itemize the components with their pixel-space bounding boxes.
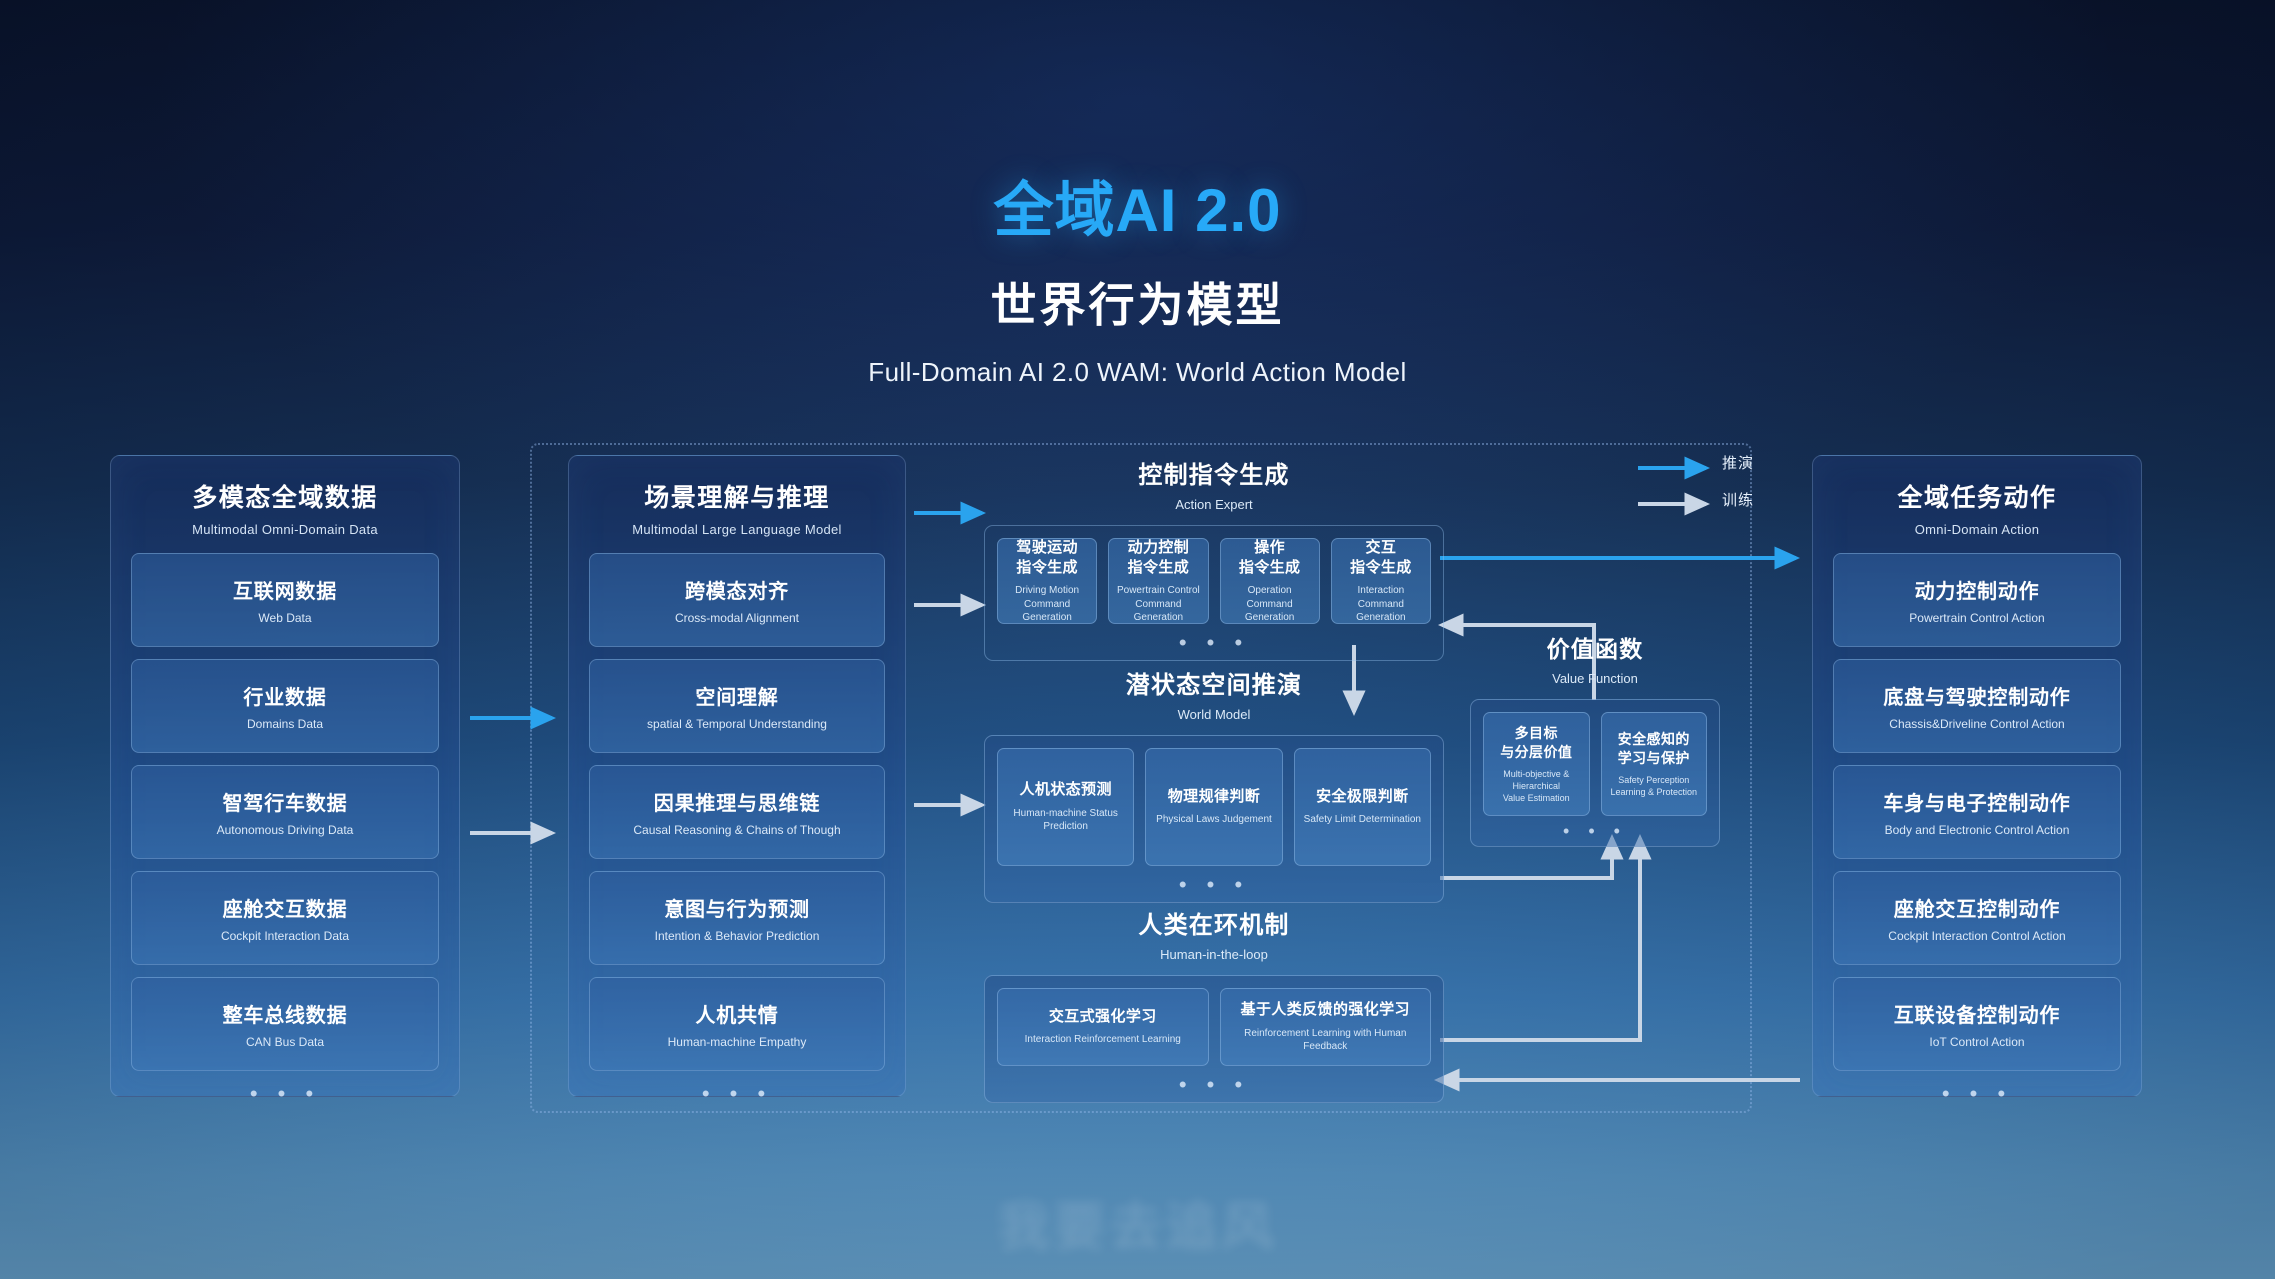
- block-body-value-function: 多目标与分层价值 Multi-objective & HierarchicalV…: [1470, 699, 1720, 847]
- block-title-cn: 价值函数: [1470, 630, 1720, 664]
- chip-title-cn: 多目标与分层价值: [1500, 724, 1572, 762]
- chip-title-en: Powertrain ControlCommand Generation: [1115, 584, 1201, 625]
- chip-title-cn: 物理规律判断: [1168, 787, 1260, 807]
- list-item[interactable]: 基于人类反馈的强化学习 Reinforcement Learning with …: [1220, 988, 1432, 1066]
- list-item[interactable]: 座舱交互数据 Cockpit Interaction Data: [131, 871, 439, 965]
- card-title-cn: 车身与电子控制动作: [1840, 787, 2114, 816]
- block-title-en: Value Function: [1470, 671, 1720, 686]
- more-indicator: • • •: [1833, 1083, 2121, 1105]
- card-title-en: Causal Reasoning & Chains of Though: [596, 823, 878, 837]
- chip-title-en: Reinforcement Learning with Human Feedba…: [1227, 1027, 1425, 1054]
- card-title-cn: 智驾行车数据: [138, 787, 432, 816]
- list-item[interactable]: 人机共情 Human-machine Empathy: [589, 977, 885, 1071]
- card-title-en: Chassis&Driveline Control Action: [1840, 717, 2114, 731]
- block-title-en: Human-in-the-loop: [984, 947, 1444, 962]
- chip-title-cn: 安全极限判断: [1316, 787, 1408, 807]
- list-item[interactable]: 智驾行车数据 Autonomous Driving Data: [131, 765, 439, 859]
- card-title-en: CAN Bus Data: [138, 1035, 432, 1049]
- card-title-en: Human-machine Empathy: [596, 1035, 878, 1049]
- more-indicator: • • •: [1483, 822, 1707, 840]
- block-title-en: World Model: [984, 707, 1444, 722]
- more-indicator: • • •: [131, 1083, 439, 1105]
- card-title-en: Autonomous Driving Data: [138, 823, 432, 837]
- chip-title-cn: 安全感知的学习与保护: [1618, 730, 1690, 768]
- more-indicator: • • •: [997, 1074, 1431, 1096]
- legend-label-inference: 推演: [1722, 452, 1754, 473]
- column-omni-domain-action: 全域任务动作 Omni-Domain Action 动力控制动作 Powertr…: [1812, 455, 2142, 1097]
- card-title-cn: 互联设备控制动作: [1840, 999, 2114, 1028]
- column-title-action-en: Omni-Domain Action: [1833, 522, 2121, 537]
- chip-title-en: Driving MotionCommand Generation: [1004, 584, 1090, 625]
- list-item[interactable]: 人机状态预测 Human-machine Status Prediction: [997, 748, 1134, 866]
- list-item[interactable]: 互联网数据 Web Data: [131, 553, 439, 647]
- card-title-en: Body and Electronic Control Action: [1840, 823, 2114, 837]
- list-item[interactable]: 空间理解 spatial & Temporal Understanding: [589, 659, 885, 753]
- column-title-data-en: Multimodal Omni-Domain Data: [131, 522, 439, 537]
- list-item[interactable]: 跨模态对齐 Cross-modal Alignment: [589, 553, 885, 647]
- legend-label-training: 训练: [1722, 489, 1754, 510]
- chip-title-cn: 交互指令生成: [1350, 538, 1412, 579]
- card-title-cn: 座舱交互数据: [138, 893, 432, 922]
- card-title-en: spatial & Temporal Understanding: [596, 717, 878, 731]
- chip-title-en: Human-machine Status Prediction: [1004, 807, 1127, 834]
- list-item[interactable]: 交互指令生成 InteractionCommand Generation: [1331, 538, 1431, 624]
- card-title-cn: 底盘与驾驶控制动作: [1840, 681, 2114, 710]
- chip-title-cn: 基于人类反馈的强化学习: [1241, 1000, 1410, 1020]
- more-indicator: • • •: [997, 874, 1431, 896]
- chip-title-cn: 动力控制指令生成: [1128, 538, 1190, 579]
- block-title-cn: 人类在环机制: [984, 905, 1444, 940]
- list-item[interactable]: 驾驶运动指令生成 Driving MotionCommand Generatio…: [997, 538, 1097, 624]
- more-indicator: • • •: [997, 632, 1431, 654]
- list-item[interactable]: 动力控制动作 Powertrain Control Action: [1833, 553, 2121, 647]
- list-item[interactable]: 整车总线数据 CAN Bus Data: [131, 977, 439, 1071]
- chip-title-cn: 驾驶运动指令生成: [1016, 538, 1078, 579]
- list-item[interactable]: 车身与电子控制动作 Body and Electronic Control Ac…: [1833, 765, 2121, 859]
- column-title-action-cn: 全域任务动作: [1833, 478, 2121, 514]
- architecture-diagram: 推演 训练 多模态全域数据 Multimodal Omni-Domain Dat…: [0, 0, 2275, 1279]
- card-title-cn: 行业数据: [138, 681, 432, 710]
- column-header-data: 多模态全域数据 Multimodal Omni-Domain Data: [131, 478, 439, 537]
- block-body-world-model: 人机状态预测 Human-machine Status Prediction 物…: [984, 735, 1444, 903]
- card-title-en: Web Data: [138, 611, 432, 625]
- column-title-mllm-cn: 场景理解与推理: [589, 478, 885, 514]
- column-multimodal-data: 多模态全域数据 Multimodal Omni-Domain Data 互联网数…: [110, 455, 460, 1097]
- list-item[interactable]: 因果推理与思维链 Causal Reasoning & Chains of Th…: [589, 765, 885, 859]
- column-header-mllm: 场景理解与推理 Multimodal Large Language Model: [589, 478, 885, 537]
- chip-title-en: InteractionCommand Generation: [1338, 584, 1424, 625]
- block-header-world-model: 潜状态空间推演 World Model: [984, 665, 1444, 722]
- card-title-en: Powertrain Control Action: [1840, 611, 2114, 625]
- column-scene-understanding: 场景理解与推理 Multimodal Large Language Model …: [568, 455, 906, 1097]
- list-item[interactable]: 安全极限判断 Safety Limit Determination: [1294, 748, 1431, 866]
- list-item[interactable]: 交互式强化学习 Interaction Reinforcement Learni…: [997, 988, 1209, 1066]
- chip-title-en: Physical Laws Judgement: [1156, 813, 1272, 827]
- block-action-expert: 控制指令生成 Action Expert 驾驶运动指令生成 Driving Mo…: [984, 455, 1444, 661]
- column-title-data-cn: 多模态全域数据: [131, 478, 439, 514]
- block-header-action-expert: 控制指令生成 Action Expert: [984, 455, 1444, 512]
- chip-title-cn: 人机状态预测: [1019, 780, 1111, 800]
- block-title-cn: 潜状态空间推演: [984, 665, 1444, 700]
- more-indicator: • • •: [589, 1083, 885, 1105]
- card-title-cn: 跨模态对齐: [596, 575, 878, 604]
- block-body-hitl: 交互式强化学习 Interaction Reinforcement Learni…: [984, 975, 1444, 1103]
- card-title-cn: 整车总线数据: [138, 999, 432, 1028]
- card-title-en: Cross-modal Alignment: [596, 611, 878, 625]
- list-item[interactable]: 安全感知的学习与保护 Safety PerceptionLearning & P…: [1601, 712, 1708, 816]
- card-title-en: Cockpit Interaction Data: [138, 929, 432, 943]
- legend: 推演 训练: [1632, 452, 1822, 526]
- card-title-cn: 座舱交互控制动作: [1840, 893, 2114, 922]
- chip-title-cn: 操作指令生成: [1239, 538, 1301, 579]
- list-item[interactable]: 底盘与驾驶控制动作 Chassis&Driveline Control Acti…: [1833, 659, 2121, 753]
- chip-title-en: Interaction Reinforcement Learning: [1025, 1033, 1181, 1047]
- chip-title-en: Safety Limit Determination: [1304, 813, 1421, 827]
- block-title-cn: 控制指令生成: [984, 455, 1444, 490]
- block-header-value-function: 价值函数 Value Function: [1470, 630, 1720, 686]
- list-item[interactable]: 操作指令生成 OperationCommand Generation: [1220, 538, 1320, 624]
- list-item[interactable]: 动力控制指令生成 Powertrain ControlCommand Gener…: [1108, 538, 1208, 624]
- legend-item-inference: 推演: [1632, 452, 1822, 473]
- card-title-cn: 意图与行为预测: [596, 893, 878, 922]
- list-item[interactable]: 意图与行为预测 Intention & Behavior Prediction: [589, 871, 885, 965]
- card-title-en: Intention & Behavior Prediction: [596, 929, 878, 943]
- chip-title-en: Multi-objective & HierarchicalValue Esti…: [1490, 768, 1583, 804]
- chip-title-en: Safety PerceptionLearning & Protection: [1610, 774, 1697, 798]
- block-value-function: 价值函数 Value Function 多目标与分层价值 Multi-objec…: [1470, 630, 1720, 847]
- card-title-cn: 空间理解: [596, 681, 878, 710]
- block-body-action-expert: 驾驶运动指令生成 Driving MotionCommand Generatio…: [984, 525, 1444, 661]
- card-title-en: IoT Control Action: [1840, 1035, 2114, 1049]
- card-title-cn: 人机共情: [596, 999, 878, 1028]
- card-title-en: Domains Data: [138, 717, 432, 731]
- block-title-en: Action Expert: [984, 497, 1444, 512]
- card-title-en: Cockpit Interaction Control Action: [1840, 929, 2114, 943]
- list-item[interactable]: 座舱交互控制动作 Cockpit Interaction Control Act…: [1833, 871, 2121, 965]
- card-title-cn: 因果推理与思维链: [596, 787, 878, 816]
- watermark: 我要去追风: [858, 1185, 1418, 1251]
- block-human-in-the-loop: 人类在环机制 Human-in-the-loop 交互式强化学习 Interac…: [984, 905, 1444, 1103]
- legend-item-training: 训练: [1632, 489, 1822, 510]
- column-header-action: 全域任务动作 Omni-Domain Action: [1833, 478, 2121, 537]
- list-item[interactable]: 多目标与分层价值 Multi-objective & HierarchicalV…: [1483, 712, 1590, 816]
- chip-title-en: OperationCommand Generation: [1227, 584, 1313, 625]
- chip-title-cn: 交互式强化学习: [1049, 1007, 1157, 1027]
- card-title-cn: 动力控制动作: [1840, 575, 2114, 604]
- column-title-mllm-en: Multimodal Large Language Model: [589, 522, 885, 537]
- list-item[interactable]: 物理规律判断 Physical Laws Judgement: [1145, 748, 1282, 866]
- list-item[interactable]: 行业数据 Domains Data: [131, 659, 439, 753]
- block-world-model: 潜状态空间推演 World Model 人机状态预测 Human-machine…: [984, 665, 1444, 903]
- card-title-cn: 互联网数据: [138, 575, 432, 604]
- block-header-hitl: 人类在环机制 Human-in-the-loop: [984, 905, 1444, 962]
- list-item[interactable]: 互联设备控制动作 IoT Control Action: [1833, 977, 2121, 1071]
